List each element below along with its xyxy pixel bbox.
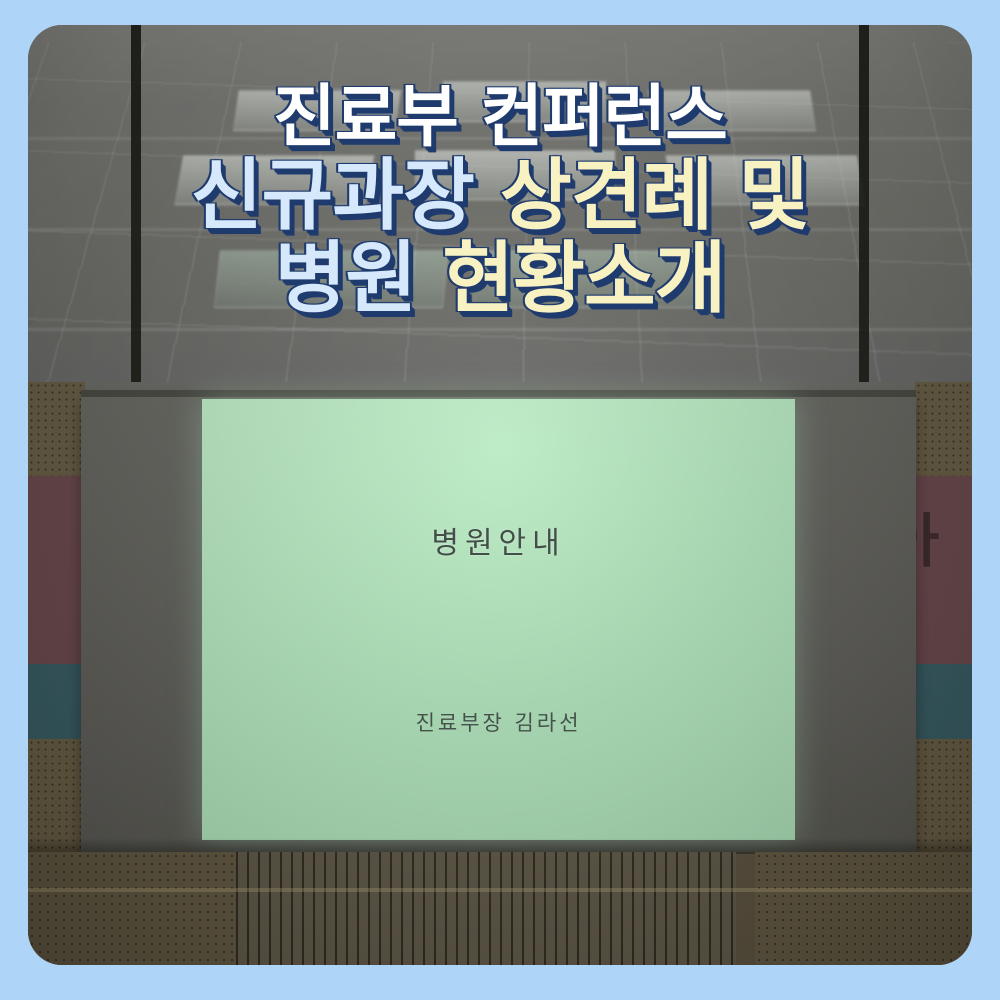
photograph: 아 아 병원안내 진료부장 김라선 bbox=[28, 25, 972, 965]
perforated-panel-right bbox=[755, 852, 972, 965]
ceiling-light-panel bbox=[443, 81, 605, 122]
ceiling-light-panel bbox=[470, 250, 702, 308]
projected-slide: 병원안내 진료부장 김라선 bbox=[202, 399, 795, 840]
screen-top-bar bbox=[81, 390, 916, 397]
slide-presenter: 진료부장 김라선 bbox=[202, 707, 795, 737]
panel-rail bbox=[28, 888, 972, 892]
slide-title: 병원안내 bbox=[202, 518, 795, 562]
perforated-panel-left bbox=[28, 852, 245, 965]
ceiling-light-panel bbox=[175, 155, 375, 205]
ceiling-beam bbox=[28, 137, 972, 140]
bottom-wall-paneling bbox=[28, 852, 972, 965]
ceiling-beam bbox=[28, 328, 972, 331]
ceiling-beam bbox=[28, 228, 972, 231]
ceiling-light-panel bbox=[233, 90, 401, 131]
wood-slat-panel bbox=[236, 852, 736, 965]
ceiling-light-panel bbox=[648, 90, 816, 131]
ceiling-light-panel bbox=[415, 150, 615, 200]
poster-frame: 아 아 병원안내 진료부장 김라선 bbox=[0, 0, 1000, 1000]
ceiling-light-panel bbox=[666, 155, 866, 205]
ceiling-light-panel bbox=[214, 250, 449, 308]
